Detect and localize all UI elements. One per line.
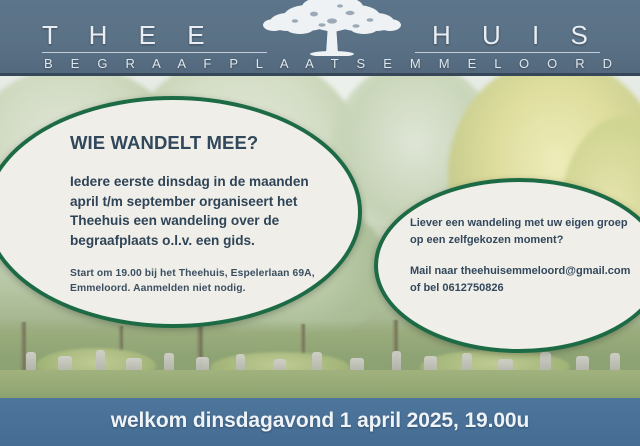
footer-band: welkom dinsdagavond 1 april 2025, 19.00u (0, 398, 640, 446)
poster: T H E E H U I S B E G R A A F P L A A T … (0, 0, 640, 446)
footer-announcement: welkom dinsdagavond 1 april 2025, 19.00u (0, 409, 640, 433)
oval-right-question: Liever een wandeling met uw eigen groep … (410, 215, 640, 248)
wordmark-huis: H U I S (432, 20, 600, 51)
oval-right-contact: Mail naar theehuisemmeloord@gmail.com of… (410, 263, 640, 296)
info-oval-primary: WIE WANDELT MEE? Iedere eerste dinsdag i… (0, 96, 362, 328)
header-rule-left (42, 52, 267, 53)
oval-left-note: Start om 19.00 bij het Theehuis, Espeler… (70, 266, 340, 296)
oval-left-body: Iedere eerste dinsdag in de maanden apri… (70, 172, 340, 250)
oval-left-heading: WIE WANDELT MEE? (70, 132, 340, 154)
wordmark-thee: T H E E (42, 20, 217, 51)
header-band: T H E E H U I S B E G R A A F P L A A T … (0, 0, 640, 76)
header-rule-right (415, 52, 600, 53)
header-subtitle: B E G R A A F P L A A T S E M M E L O O … (44, 56, 604, 71)
grass-strip (0, 370, 640, 398)
wordmark: T H E E H U I S B E G R A A F P L A A T … (0, 0, 640, 76)
